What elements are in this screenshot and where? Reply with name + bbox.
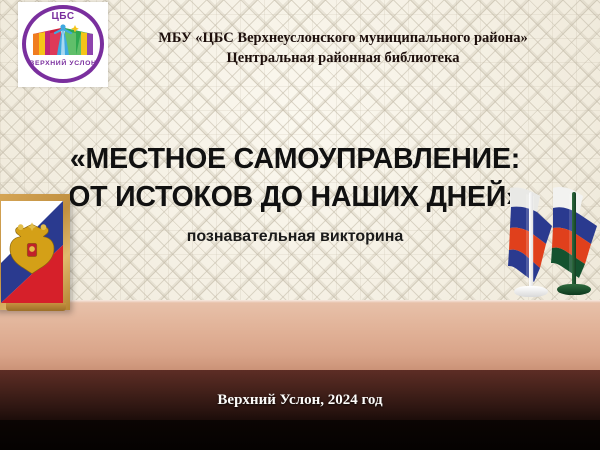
flag-base-right	[557, 284, 591, 295]
organization-line-2: Центральная районная библиотека	[118, 48, 568, 68]
picture-canvas	[1, 201, 63, 303]
footer-location-year: Верхний Услон, 2024 год	[0, 392, 600, 409]
flag-pole-left	[529, 192, 533, 290]
table-bottom-shadow	[0, 420, 600, 450]
title-line-2: ОТ ИСТОКОВ ДО НАШИХ ДНЕЙ»	[40, 178, 550, 216]
frame-stand	[6, 303, 66, 311]
logo-bottom-label: ВЕРХНИЙ УСЛОН	[16, 60, 111, 67]
open-book-icon	[31, 24, 95, 58]
library-logo: ЦБС ВЕРХНИ	[18, 2, 108, 87]
slide-title: «МЕСТНОЕ САМОУПРАВЛЕНИЕ: ОТ ИСТОКОВ ДО Н…	[40, 140, 550, 216]
organization-line-1: МБУ «ЦБС Верхнеуслонского муниципального…	[118, 28, 568, 48]
flag-pole-right	[572, 192, 576, 288]
flag-base-left	[514, 286, 548, 297]
table-flags	[500, 186, 600, 326]
presentation-slide: ЦБС ВЕРХНИ	[0, 0, 600, 450]
organization-header: МБУ «ЦБС Верхнеуслонского муниципального…	[118, 28, 568, 68]
title-line-1: «МЕСТНОЕ САМОУПРАВЛЕНИЕ:	[40, 140, 550, 178]
framed-coat-of-arms-picture	[0, 194, 70, 310]
logo-top-label: ЦБС	[18, 11, 108, 22]
flag-right	[545, 184, 600, 299]
slide-subtitle: познавательная викторина	[40, 228, 550, 246]
